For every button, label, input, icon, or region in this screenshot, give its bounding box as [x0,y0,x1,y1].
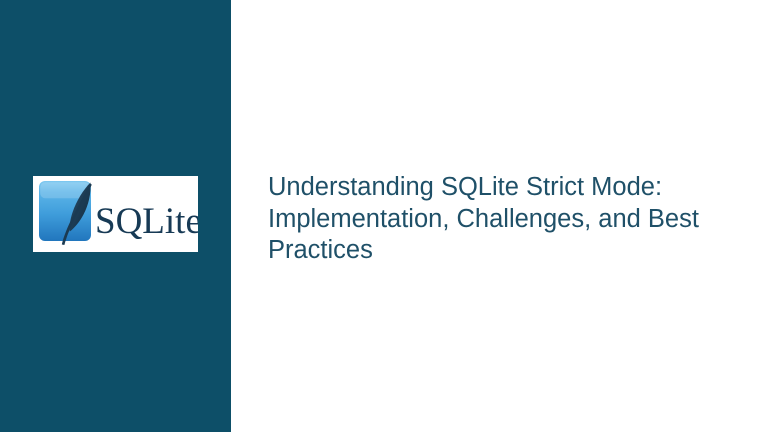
title-slide: SQLite Understanding SQLite Strict Mode:… [0,0,768,432]
sidebar-panel: SQLite [0,0,231,432]
page-title: Understanding SQLite Strict Mode: Implem… [268,172,720,267]
sqlite-wordmark: SQLite [95,201,198,242]
sqlite-logo: SQLite [33,176,198,252]
sqlite-logo-icon: SQLite [33,176,198,252]
